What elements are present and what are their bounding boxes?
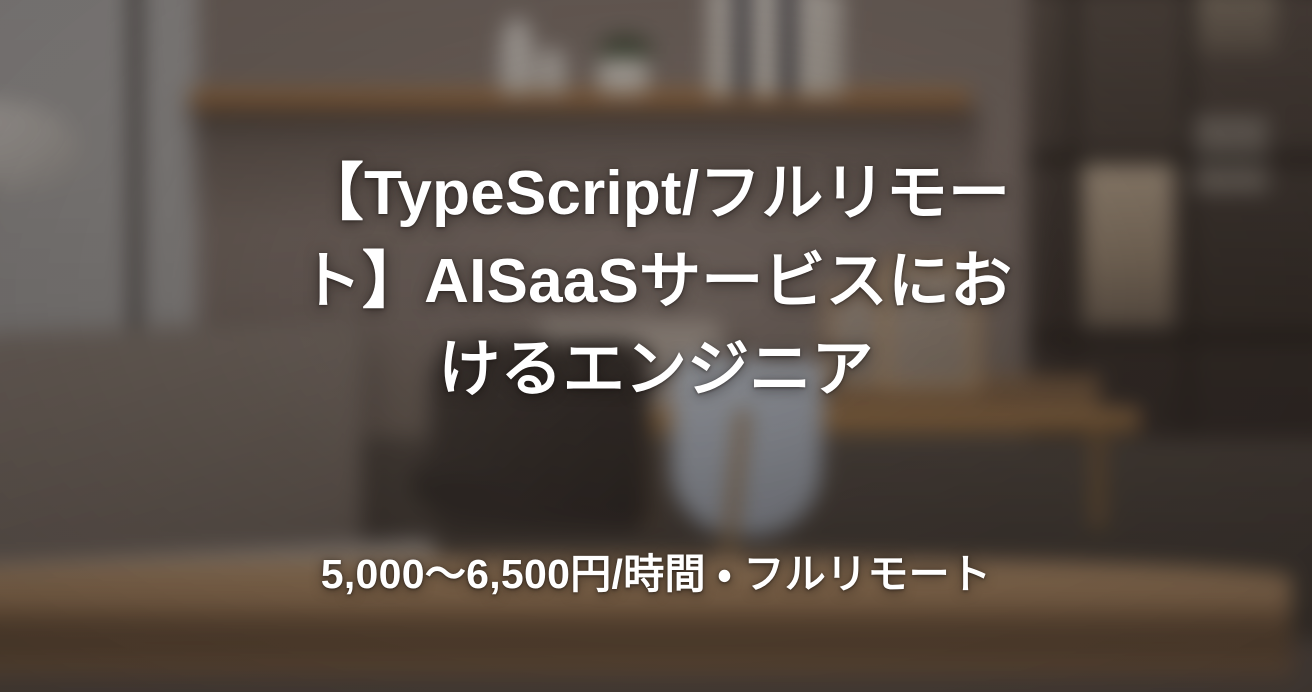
job-title: 【TypeScript/フルリモート】AISaaSサービスにおけるエンジニア (296, 150, 1016, 414)
job-posting-banner: 【TypeScript/フルリモート】AISaaSサービスにおけるエンジニア 5… (0, 0, 1312, 692)
job-subtitle: 5,000〜6,500円/時間 ・ フルリモート (0, 550, 1312, 599)
